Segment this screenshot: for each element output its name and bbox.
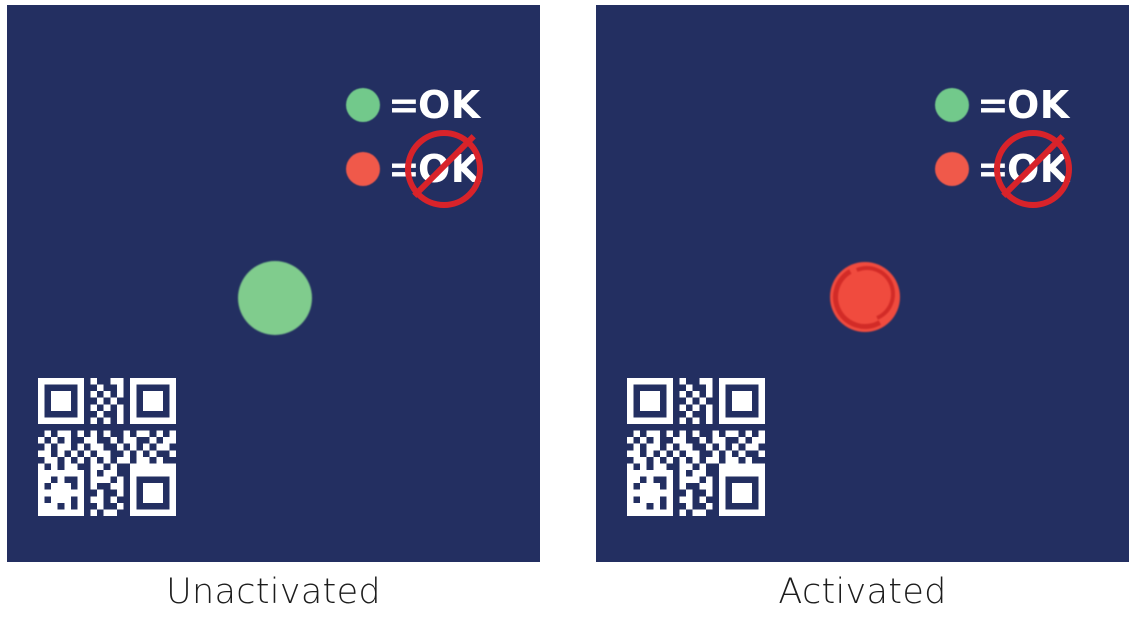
red-dot-icon	[935, 152, 969, 186]
legend-ok-label: OK	[418, 142, 481, 196]
green-dot-icon	[346, 88, 380, 122]
legend-ok-label: OK	[418, 78, 481, 132]
status-light-green	[238, 261, 312, 335]
comparison-figure: = OK = OK	[0, 0, 1135, 638]
panel-activated: = OK = OK	[596, 5, 1129, 562]
panel-caption-activated: Activated	[596, 572, 1129, 612]
legend-row-ok: = OK	[346, 77, 506, 141]
legend-row-not-ok: = OK	[935, 141, 1095, 205]
legend-activated: = OK = OK	[935, 77, 1095, 205]
legend-unactivated: = OK = OK	[346, 77, 506, 205]
legend-row-ok: = OK	[935, 77, 1095, 141]
panel-caption-unactivated: Unactivated	[7, 572, 540, 612]
legend-equals-sign: =	[977, 142, 1009, 196]
legend-row-not-ok: = OK	[346, 141, 506, 205]
panel-unactivated: = OK = OK	[7, 5, 540, 562]
legend-equals-sign: =	[977, 78, 1009, 132]
red-dot-icon	[346, 152, 380, 186]
qr-code	[38, 378, 176, 516]
legend-ok-label: OK	[1007, 142, 1070, 196]
qr-code	[627, 378, 765, 516]
legend-ok-label: OK	[1007, 78, 1070, 132]
legend-equals-sign: =	[388, 142, 420, 196]
status-light-red	[830, 262, 900, 332]
green-dot-icon	[935, 88, 969, 122]
legend-equals-sign: =	[388, 78, 420, 132]
